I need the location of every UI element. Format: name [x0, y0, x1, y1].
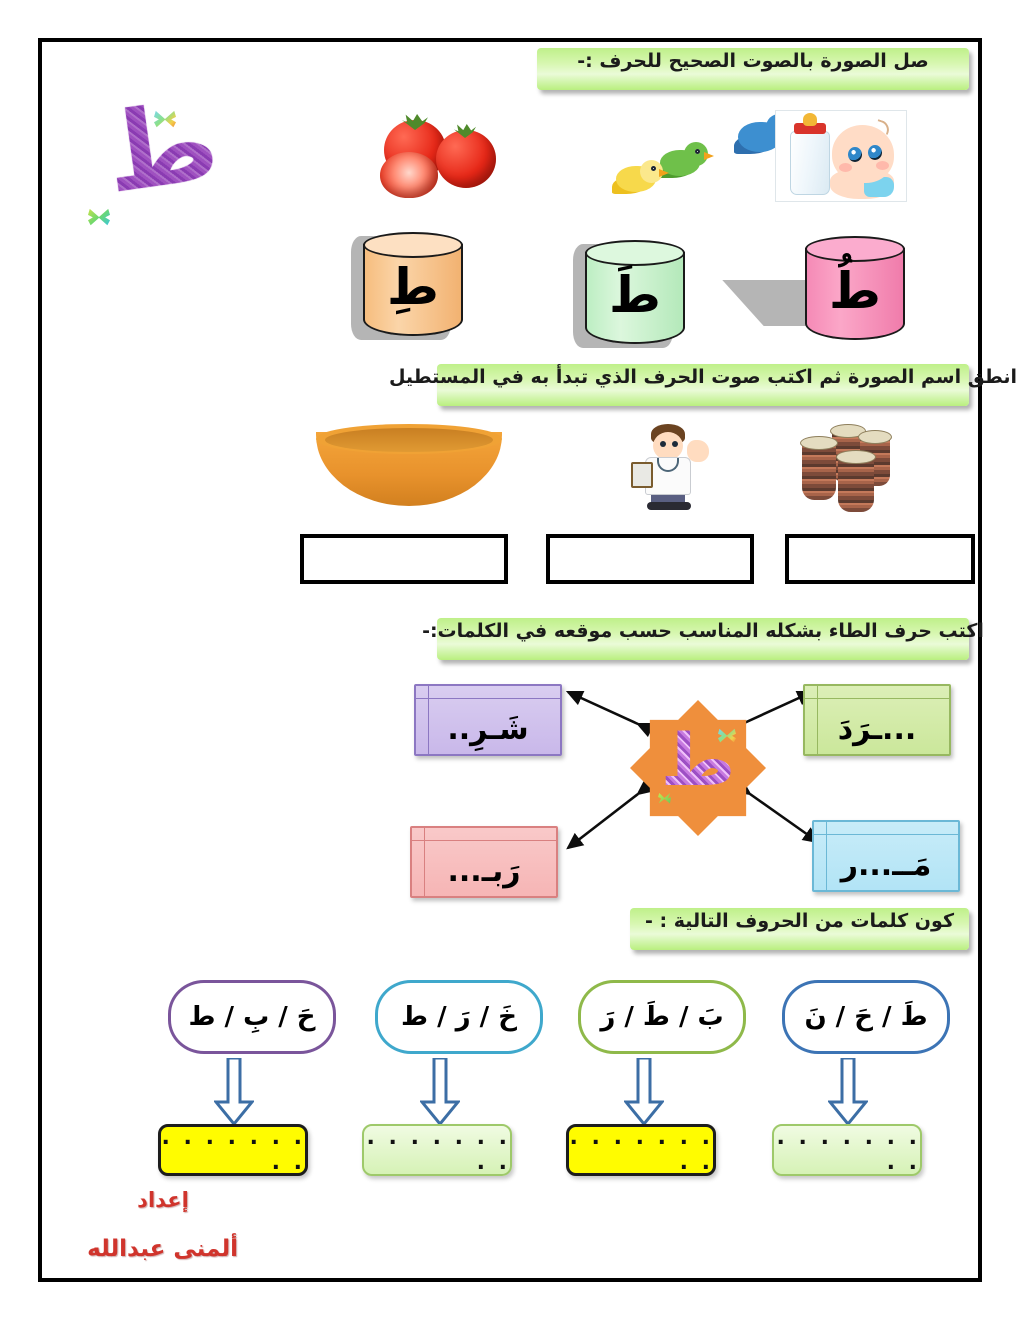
cylinder-letter: طَ [585, 270, 685, 320]
cylinder-option-kasra[interactable]: طِ [363, 232, 463, 340]
instruction-banner-3: اكتب حرف الطاء بشكله المناسب حسب موقعه ف… [437, 618, 969, 660]
picture-doctor[interactable] [625, 424, 715, 510]
doctor-face [653, 432, 683, 460]
word-card-text: مَــ...ر [814, 836, 958, 894]
letter-combo-text: بَ / طَ / رَ [600, 1002, 723, 1032]
answer-dots: . . . . . . . . . [569, 1125, 713, 1175]
word-answer-box-4[interactable]: . . . . . . . . . [158, 1124, 308, 1176]
letter-combo-text: حَ / بِ / ط [188, 1002, 315, 1032]
credit-author-name: ألمنى عبدالله [90, 1236, 238, 1262]
letter-combo-bubble-3[interactable]: خَ / رَ / ط [375, 980, 543, 1054]
drum-shell [838, 457, 874, 512]
bird-eye [695, 149, 700, 154]
baby-cheek [839, 163, 852, 172]
drum-skin [836, 450, 876, 464]
word-card-text: رَبـ... [412, 842, 556, 900]
drum-skin [800, 436, 838, 450]
letter-combo-bubble-4[interactable]: حَ / بِ / ط [168, 980, 336, 1054]
answer-dots: . . . . . . . . . [774, 1125, 920, 1175]
down-arrow-2 [624, 1058, 664, 1126]
picture-tomatoes[interactable] [378, 112, 504, 200]
glitter-letter-glyph: ط [81, 87, 225, 212]
instruction-banner-2: انطق اسم الصورة ثم اكتب صوت الحرف الذي ت… [437, 364, 969, 406]
word-answer-box-2[interactable]: . . . . . . . . . [566, 1124, 716, 1176]
instruction-text-4: كون كلمات من الحروف التالية : - [645, 910, 954, 933]
cylinder-top [585, 240, 685, 266]
word-card-text: شَـرِ.. [416, 700, 560, 758]
bowl-interior [325, 428, 493, 452]
word-answer-box-1[interactable]: . . . . . . . . . [772, 1124, 922, 1176]
cylinder-option-fatha[interactable]: طَ [585, 240, 685, 348]
instruction-text-2: انطق اسم الصورة ثم اكتب صوت الحرف الذي ت… [389, 366, 1017, 389]
instruction-banner-1: صل الصورة بالصوت الصحيح للحرف :- [537, 48, 969, 90]
card-rule-horizontal [814, 834, 958, 835]
picture-baby-with-bottle[interactable] [775, 110, 907, 202]
instruction-text-3: اكتب حرف الطاء بشكله المناسب حسب موقعه ف… [422, 620, 984, 643]
drum-shell [802, 443, 836, 500]
bird-beak [704, 152, 714, 160]
arrow-to-purple-card [568, 692, 638, 724]
baby-eye [848, 147, 862, 162]
drum-skin [858, 430, 892, 444]
answer-dots: . . . . . . . . . [364, 1125, 510, 1175]
doctor-eye [660, 441, 666, 447]
baby-bottle-icon [790, 131, 830, 195]
drum-icon [836, 450, 876, 512]
down-arrow-4 [214, 1058, 254, 1126]
answer-box-2[interactable] [546, 534, 754, 584]
word-card-purple[interactable]: شَـرِ.. [414, 684, 562, 756]
doctor-eye [672, 441, 678, 447]
word-card-blue[interactable]: مَــ...ر [812, 820, 960, 892]
answer-dots: . . . . . . . . . [161, 1125, 305, 1175]
doctor-shoes [647, 502, 691, 510]
letter-combo-text: طَ / حَ / نَ [804, 1002, 927, 1032]
baby-cheek [876, 161, 889, 170]
credit-label: إعداد [104, 1188, 222, 1212]
letter-combo-text: خَ / رَ / ط [401, 1002, 517, 1032]
down-arrow-3 [420, 1058, 460, 1126]
cylinder-top [363, 232, 463, 258]
drum-icon [800, 436, 838, 500]
answer-box-3[interactable] [785, 534, 975, 584]
word-card-green[interactable]: ...ـرَدَ [803, 684, 951, 756]
worksheet-page: ط صل الصورة بالصوت الصحيح للحرف :- [0, 0, 1020, 1320]
picture-birds[interactable] [610, 112, 730, 200]
star-letter-glyph: ط [630, 724, 766, 796]
decorative-letter-ta: ط [88, 108, 218, 228]
word-card-text: ...ـرَدَ [805, 700, 949, 758]
cylinder-letter: طُ [805, 266, 905, 316]
tomato-slice-shape [380, 152, 438, 198]
down-arrow-1 [828, 1058, 868, 1126]
picture-drums[interactable] [800, 420, 908, 512]
arrow-to-pink-card [568, 794, 638, 848]
word-answer-box-3[interactable]: . . . . . . . . . [362, 1124, 512, 1176]
card-rule-horizontal [805, 698, 949, 699]
cylinder-top [805, 236, 905, 262]
card-rule-horizontal [412, 840, 556, 841]
picture-bowl[interactable] [316, 424, 502, 508]
instruction-text-1: صل الصورة بالصوت الصحيح للحرف :- [577, 50, 928, 73]
card-rule-horizontal [416, 698, 560, 699]
instruction-banner-4: كون كلمات من الحروف التالية : - [630, 908, 969, 950]
cylinder-option-damma[interactable]: طُ [805, 236, 905, 344]
cylinder-letter: طِ [363, 262, 463, 312]
center-star-badge: ط [630, 700, 766, 836]
baby-eye [868, 145, 882, 160]
bottle-teat [803, 113, 817, 126]
bird-eye [651, 166, 656, 171]
letter-combo-bubble-1[interactable]: طَ / حَ / نَ [782, 980, 950, 1054]
letter-combo-bubble-2[interactable]: بَ / طَ / رَ [578, 980, 746, 1054]
answer-box-1[interactable] [300, 534, 508, 584]
clipboard-icon [631, 462, 653, 488]
tomato-shape [436, 130, 496, 188]
word-card-pink[interactable]: رَبـ... [410, 826, 558, 898]
doctor-waving-hand [687, 440, 709, 462]
